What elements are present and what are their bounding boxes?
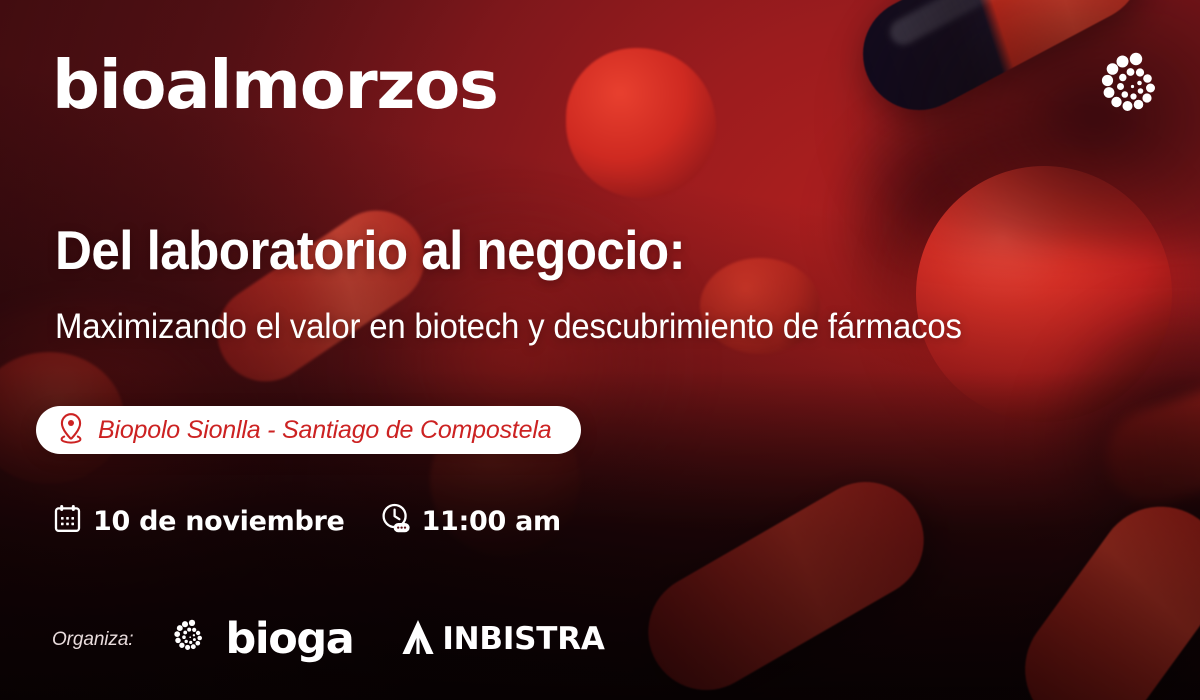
inbistra-wordmark: INBISTRA [442, 624, 604, 655]
footer-organizers: Organiza: [52, 614, 605, 665]
event-time-label: 11:00 am [422, 506, 561, 537]
venue-badge: Biopolo Sionlla - Santiago de Compostela [36, 406, 581, 454]
event-date: 10 de noviembre [53, 504, 345, 539]
bioga-spiral-dots-icon [167, 614, 213, 665]
event-banner: bioalmorzos [0, 0, 1200, 700]
bioga-spiral-dots-icon [1088, 42, 1176, 135]
venue-label: Biopolo Sionlla - Santiago de Compostela [98, 416, 551, 445]
banner-content: bioalmorzos [0, 0, 1200, 700]
page-subtitle: Maximizando el valor en biotech y descub… [55, 307, 962, 347]
calendar-icon [53, 504, 82, 539]
sponsor-logo-inbistra: INBISTRA [399, 618, 604, 661]
bioga-wordmark: bioga [225, 618, 353, 661]
page-title: Del laboratorio al negocio: [55, 222, 685, 280]
event-date-label: 10 de noviembre [93, 506, 345, 537]
sponsor-logo-bioga: bioga [167, 614, 353, 665]
event-datetime: 10 de noviembre 11:00 am [53, 503, 561, 539]
bioalmorzos-logo: bioalmorzos [52, 52, 498, 119]
clock-icon [381, 503, 411, 539]
event-time: 11:00 am [381, 503, 561, 539]
inbistra-chevron-icon [399, 618, 439, 661]
location-pin-icon [58, 412, 84, 449]
organiza-label: Organiza: [52, 629, 133, 651]
